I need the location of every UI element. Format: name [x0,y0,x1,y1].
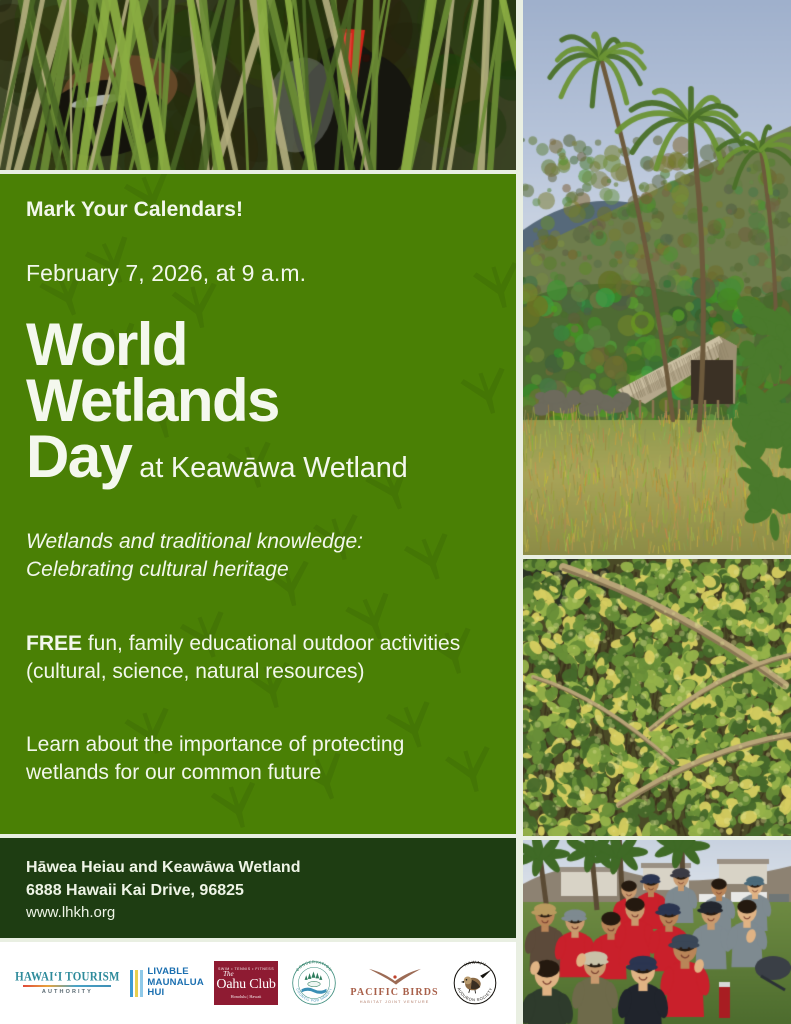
title-line-3: Day [26,423,131,490]
lmh-bars-icon [130,970,144,997]
event-date-text: February 7, 2026, at 9 a.m. [26,260,490,287]
audubon-seal-icon: HAWAI'I AUDUBON SOCIETY [449,957,501,1009]
pacific-birds-wordmark: PACIFIC BIRDS [350,987,438,998]
free-emphasis: FREE [26,632,82,655]
hawaii-audubon-society-logo: HAWAI'I AUDUBON SOCIETY [449,957,501,1009]
hta-rainbow-rule [23,985,111,987]
poster-root: Mark Your Calendars! February 7, 2026, a… [0,0,791,1024]
conservation-council-hawaii-logo: CONSERVATION COUNCIL FOR HAWAI'I [288,957,340,1009]
ccf-top-arc-text: CONSERVATION [295,959,334,972]
website-link[interactable]: www.lhkh.org [26,902,490,924]
hawaii-tourism-authority-logo: HAWAIʻI TOURISM AUTHORITY [15,971,120,995]
oahu-club-location: Honolulu | Hawaii [231,994,262,999]
title-line-2: Wetlands [26,373,490,429]
the-oahu-club-logo: SWIM • TENNIS • FITNESS The Oahu Club Ho… [214,961,278,1005]
theme-line-1: Wetlands and traditional knowledge: [26,528,490,556]
wetland-vegetation-photo [523,559,791,836]
street-address: 6888 Hawaii Kai Drive, 96825 [26,879,490,902]
address-bar: Hāwea Heiau and Keawāwa Wetland 6888 Haw… [0,838,516,938]
bird-photo [0,0,516,170]
free-activities-text: FREE fun, family educational outdoor act… [26,630,490,687]
lmh-line-3: HUI [147,988,203,999]
hale-landscape-photo [523,0,791,555]
title-line-1: World [26,317,490,373]
svg-text:CONSERVATION: CONSERVATION [295,959,334,972]
svg-text:HAWAI'I: HAWAI'I [463,960,487,968]
free-description: fun, family educational outdoor activiti… [26,632,460,683]
learn-text: Learn about the importance of protecting… [26,731,490,788]
venue-name: Hāwea Heiau and Keawāwa Wetland [26,856,490,879]
audubon-top-arc-text: HAWAI'I [463,960,487,968]
theme-text: Wetlands and traditional knowledge: Cele… [26,528,490,583]
pacific-birds-logo: PACIFIC BIRDS HABITAT JOINT VENTURE [350,963,438,1004]
hta-authority-label: AUTHORITY [42,989,93,995]
oahu-club-tagline: SWIM • TENNIS • FITNESS [218,967,274,971]
audubon-bird-shape [461,969,492,993]
hta-wordmark: HAWAIʻI TOURISM [15,970,120,984]
theme-line-2: Celebrating cultural heritage [26,556,490,584]
oahu-club-name: Oahu Club [216,978,275,992]
title-location-suffix: at Keawāwa Wetland [131,452,407,484]
announcement-text: Mark Your Calendars! [26,198,490,222]
volunteer-group-photo [523,840,791,1024]
livable-maunalua-hui-logo: LIVABLE MAUNALUA HUI [130,967,204,999]
pacific-birds-tagline: HABITAT JOINT VENTURE [360,1000,430,1004]
pacific-birds-bird-icon [367,963,423,987]
info-panel: Mark Your Calendars! February 7, 2026, a… [0,174,516,834]
lmh-wordmark: LIVABLE MAUNALUA HUI [147,967,203,999]
page-title: World Wetlands Dayat Keawāwa Wetland [26,317,490,484]
sponsor-logo-strip: HAWAIʻI TOURISM AUTHORITY LIVABLE MAUNAL… [0,942,516,1024]
ccf-seal-icon: CONSERVATION COUNCIL FOR HAWAI'I [288,957,340,1009]
